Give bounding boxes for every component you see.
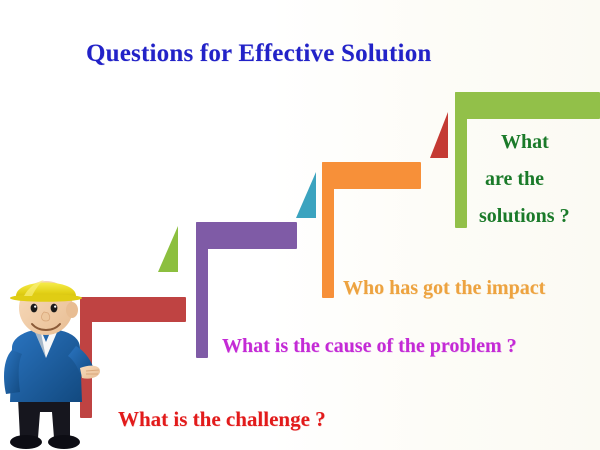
worker-nose	[42, 312, 50, 321]
worker-eye-right-glint	[54, 306, 56, 308]
step-3-caption: Who has got the impact	[343, 277, 545, 300]
step-2-marker-triangle-icon	[158, 226, 180, 279]
worker-eye-left-glint	[34, 306, 36, 308]
step-4-caption-line-3: solutions ?	[479, 198, 600, 235]
worker-ear	[66, 302, 78, 318]
step-2-caption: What is the cause of the problem ?	[222, 335, 517, 358]
worker-shoe-left	[10, 435, 42, 449]
step-2-tread	[196, 222, 297, 249]
worker-trousers	[18, 398, 70, 438]
worker-eye-left	[31, 304, 38, 313]
worker-shoe-right	[48, 435, 80, 449]
construction-worker-illustration	[0, 272, 100, 450]
step-4-marker-triangle-icon	[430, 112, 450, 165]
step-4-caption-line-1: What	[501, 124, 600, 161]
step-3-marker-triangle-icon	[296, 172, 318, 225]
worker-hand	[80, 366, 100, 379]
worker-jacket	[10, 330, 82, 402]
worker-helmet-brim	[10, 294, 82, 302]
step-4-riser	[455, 92, 467, 228]
step-3-tread	[322, 162, 421, 189]
step-4-caption: What are the solutions ?	[479, 124, 600, 235]
worker-eye-right	[51, 304, 58, 313]
step-4-tread	[455, 92, 600, 119]
slide-canvas: Questions for Effective Solution What is…	[0, 0, 600, 450]
step-4-caption-line-2: are the	[485, 161, 600, 198]
step-3-riser	[322, 162, 334, 298]
page-title: Questions for Effective Solution	[86, 40, 432, 68]
step-1-caption: What is the challenge ?	[118, 407, 326, 432]
step-2-riser	[196, 222, 208, 358]
